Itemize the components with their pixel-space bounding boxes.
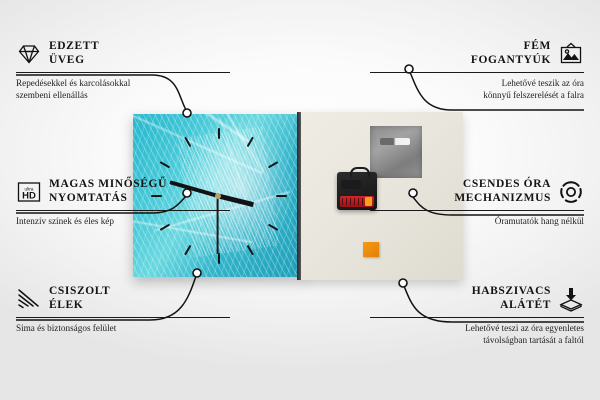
callout-title: MAGAS MINŐSÉGŰ NYOMTATÁS bbox=[49, 178, 167, 205]
callout-head: EDZETT ÜVEG bbox=[16, 40, 230, 67]
gear-icon bbox=[558, 179, 584, 205]
mechanism-groove bbox=[341, 180, 361, 189]
foam-pad-icon bbox=[558, 286, 584, 312]
callout-divider bbox=[16, 72, 230, 73]
picture-hanger-icon bbox=[558, 41, 584, 67]
callout-description: Lehetővé teszi az óra egyenletes távolsá… bbox=[370, 322, 584, 346]
hanger-slot bbox=[380, 138, 410, 145]
callout-title: CSENDES ÓRA MECHANIZMUS bbox=[454, 178, 551, 205]
callout-title: FÉM FOGANTYÚK bbox=[471, 40, 551, 67]
callout-title: CSISZOLT ÉLEK bbox=[49, 285, 110, 312]
clock-tick bbox=[184, 244, 191, 255]
callout-description: Sima és biztonságos felület bbox=[16, 322, 230, 334]
callout-divider bbox=[16, 317, 230, 318]
callout-head: CSENDES ÓRA MECHANIZMUS bbox=[370, 178, 584, 205]
callout-high-quality-print[interactable]: ultra HD MAGAS MINŐSÉGŰ NYOMTATÁS Intenz… bbox=[16, 178, 230, 227]
foam-pad bbox=[363, 242, 379, 257]
callout-description: Lehetővé teszik az óra könnyű felszerelé… bbox=[370, 77, 584, 101]
callout-divider bbox=[370, 210, 584, 211]
callout-head: ultra HD MAGAS MINŐSÉGŰ NYOMTATÁS bbox=[16, 178, 230, 205]
callout-description: Repedésekkel és karcolásokkal szembeni e… bbox=[16, 77, 230, 101]
callout-divider bbox=[370, 72, 584, 73]
clock-tick bbox=[268, 161, 279, 168]
callout-foam-pad[interactable]: HABSZIVACS ALÁTÉT Lehetővé teszi az óra … bbox=[370, 285, 584, 346]
polished-edges-icon bbox=[16, 286, 42, 312]
clock-tick bbox=[160, 161, 171, 168]
callout-description: Intenzív színek és éles kép bbox=[16, 215, 230, 227]
callout-head: HABSZIVACS ALÁTÉT bbox=[370, 285, 584, 312]
clock-tick bbox=[218, 253, 220, 264]
callout-divider bbox=[370, 317, 584, 318]
callout-metal-hangers[interactable]: FÉM FOGANTYÚK Lehetővé teszik az óra kön… bbox=[370, 40, 584, 101]
clock-tick bbox=[218, 128, 220, 139]
metal-hanger-plate bbox=[370, 126, 422, 178]
infographic-stage: EDZETT ÜVEG Repedésekkel és karcolásokka… bbox=[0, 0, 600, 400]
callout-title: HABSZIVACS ALÁTÉT bbox=[472, 285, 551, 312]
callout-divider bbox=[16, 210, 230, 211]
diamond-icon bbox=[16, 41, 42, 67]
callout-head: FÉM FOGANTYÚK bbox=[370, 40, 584, 67]
ultra-hd-icon: ultra HD bbox=[16, 179, 42, 205]
callout-description: Óramutatók hang nélkül bbox=[370, 215, 584, 227]
callout-quiet-mechanism[interactable]: CSENDES ÓRA MECHANIZMUS Óramutatók hang … bbox=[370, 178, 584, 227]
callout-tempered-glass[interactable]: EDZETT ÜVEG Repedésekkel és karcolásokka… bbox=[16, 40, 230, 101]
battery bbox=[340, 196, 374, 207]
mechanism-loop bbox=[350, 167, 370, 177]
callout-title: EDZETT ÜVEG bbox=[49, 40, 99, 67]
callout-polished-edges[interactable]: CSISZOLT ÉLEK Sima és biztonságos felüle… bbox=[16, 285, 230, 334]
ultra-hd-bottom-text: HD bbox=[22, 190, 36, 201]
clock-tick bbox=[276, 195, 287, 197]
callout-head: CSISZOLT ÉLEK bbox=[16, 285, 230, 312]
battery-label bbox=[342, 198, 364, 205]
